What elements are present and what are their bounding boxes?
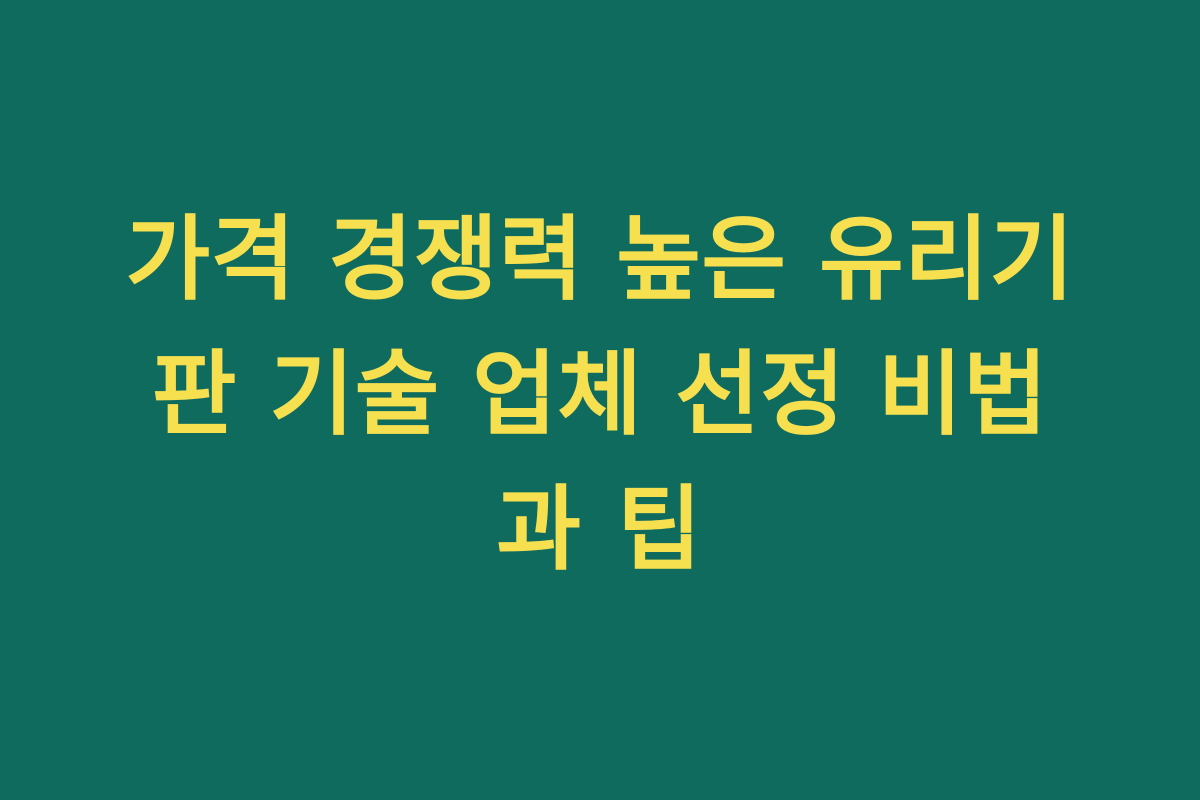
title-line-1: 가격 경쟁력 높은 유리기 <box>70 192 1130 327</box>
title-line-3: 과 팁 <box>70 462 1130 597</box>
title-line-2: 판 기술 업체 선정 비법 <box>70 327 1130 462</box>
page-title: 가격 경쟁력 높은 유리기 판 기술 업체 선정 비법 과 팁 <box>70 192 1130 597</box>
title-card: 가격 경쟁력 높은 유리기 판 기술 업체 선정 비법 과 팁 <box>0 0 1200 800</box>
